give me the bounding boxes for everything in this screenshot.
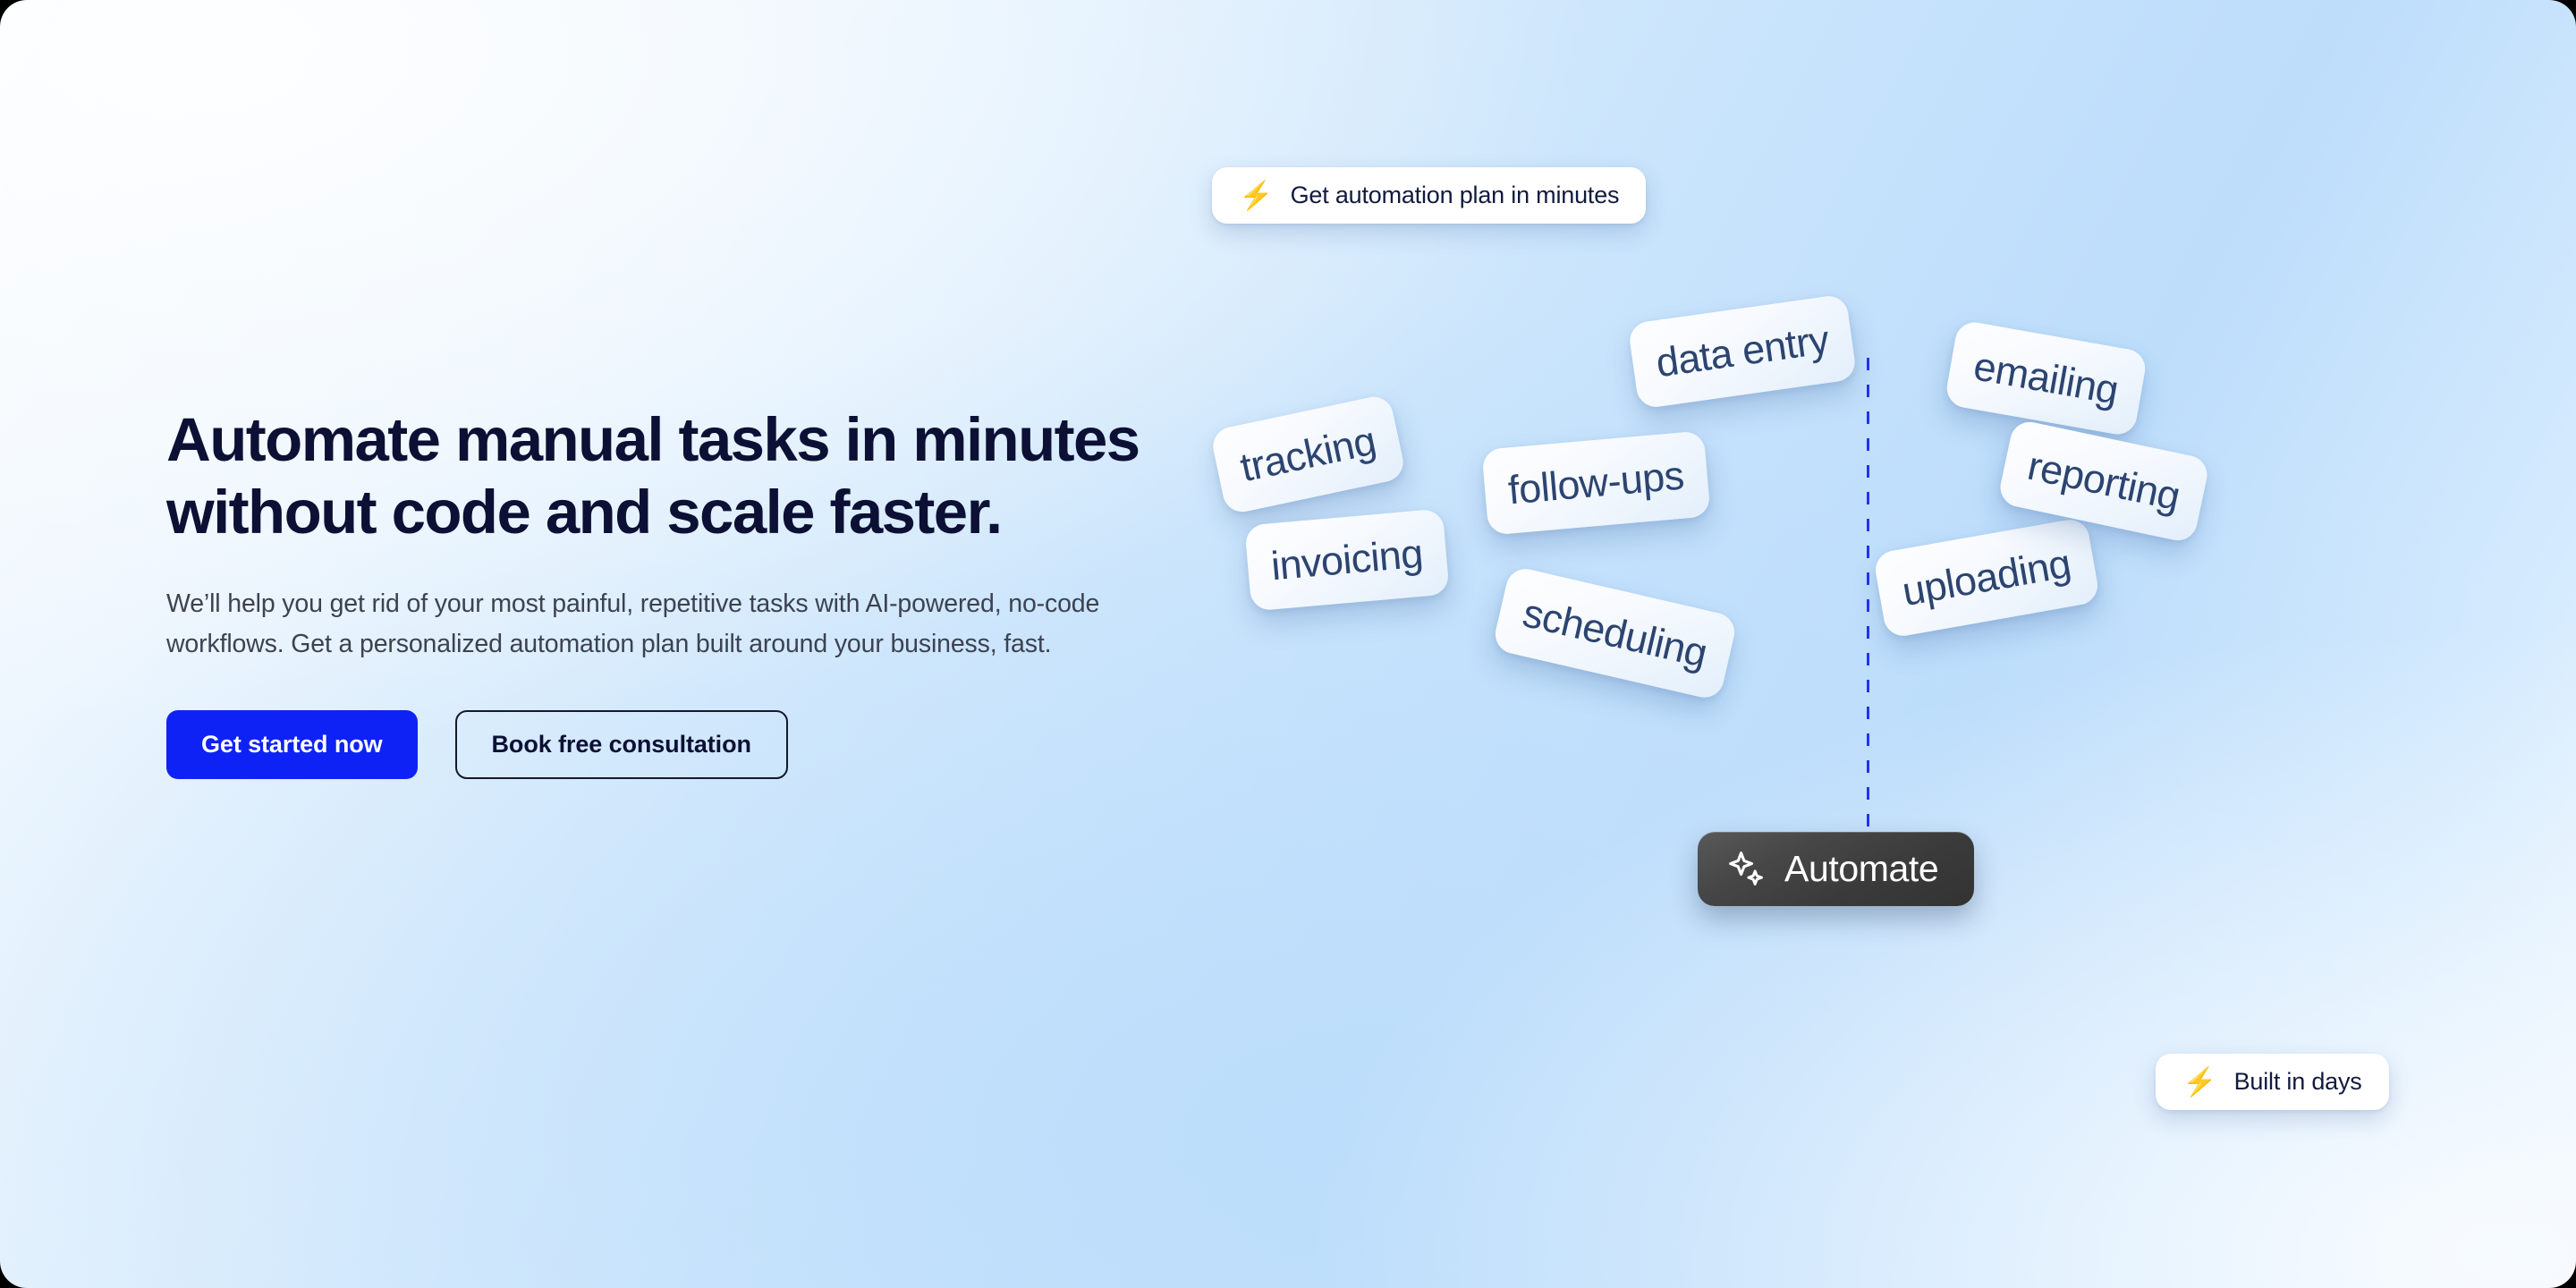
task-card-label: emailing <box>1970 343 2122 413</box>
hero-subcopy: We’ll help you get rid of your most pain… <box>166 584 1208 663</box>
task-card-scheduling: scheduling <box>1492 565 1739 701</box>
badge-built-in-days: ⚡ Built in days <box>2156 1054 2389 1110</box>
sparkles-icon <box>1727 850 1767 889</box>
lightning-bolt-icon: ⚡ <box>2182 1068 2217 1096</box>
task-card-uploading: uploading <box>1873 517 2101 640</box>
book-consultation-button[interactable]: Book free consultation <box>455 710 788 779</box>
task-card-label: invoicing <box>1269 530 1425 590</box>
task-card-data-entry: data entry <box>1628 293 1858 409</box>
task-card-emailing: emailing <box>1944 319 2148 437</box>
task-card-invoicing: invoicing <box>1244 509 1449 612</box>
badge-label: Get automation plan in minutes <box>1291 182 1620 209</box>
task-card-label: data entry <box>1653 317 1831 387</box>
lightning-bolt-icon: ⚡ <box>1239 182 1274 209</box>
cta-button-row: Get started now Book free consultation <box>166 710 1293 779</box>
task-card-label: follow-ups <box>1506 453 1685 514</box>
task-card-label: uploading <box>1899 540 2074 615</box>
automate-button[interactable]: Automate <box>1698 832 1974 906</box>
task-card-label: scheduling <box>1519 589 1712 677</box>
hero-copy-block: Automate manual tasks in minutes without… <box>166 404 1293 779</box>
task-card-label: reporting <box>2023 443 2183 521</box>
hero-illustration: ⚡ Get automation plan in minutes ⚡ Built… <box>1324 0 2576 1288</box>
automate-button-label: Automate <box>1784 848 1938 890</box>
task-card-follow-ups: follow-ups <box>1481 430 1710 535</box>
page-title: Automate manual tasks in minutes without… <box>166 404 1267 548</box>
task-card-reporting: reporting <box>1996 419 2210 545</box>
badge-label: Built in days <box>2234 1068 2362 1096</box>
task-card-label: tracking <box>1236 418 1379 492</box>
get-started-button[interactable]: Get started now <box>166 710 418 779</box>
badge-automation-plan: ⚡ Get automation plan in minutes <box>1212 167 1646 224</box>
hero-section: Automate manual tasks in minutes without… <box>0 0 2576 1288</box>
